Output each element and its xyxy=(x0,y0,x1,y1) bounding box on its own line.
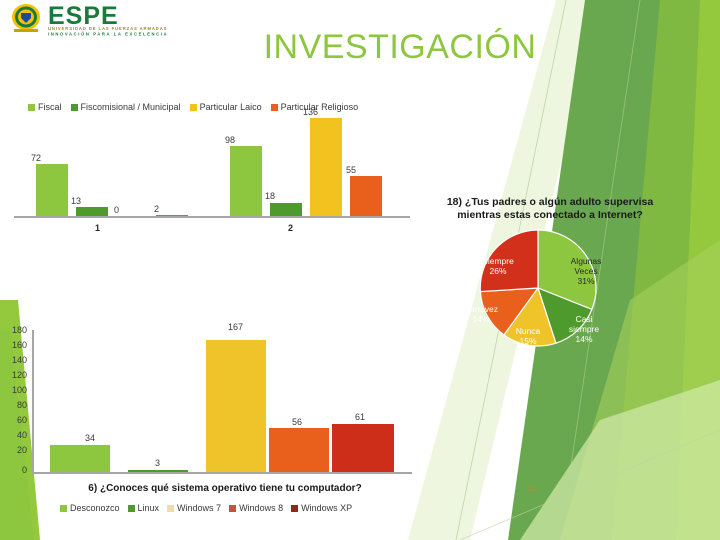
legend-item-desconozco: Desconozco xyxy=(60,503,120,513)
ytick-120: 120 xyxy=(0,370,27,380)
bar-windows-8 xyxy=(269,428,329,472)
pie-title-line1: 18) ¿Tus padres o algún adulto supervisa xyxy=(447,196,653,208)
slide-canvas: ESPE UNIVERSIDAD DE LAS FUERZAS ARMADAS … xyxy=(0,0,720,540)
ytick-40: 40 xyxy=(0,430,27,440)
legend-label: Linux xyxy=(138,503,160,513)
legend-item-linux: Linux xyxy=(128,503,160,513)
slide-title: INVESTIGACIÓN xyxy=(200,28,600,67)
pie-label-text2: siempre xyxy=(569,324,599,334)
deco-band-softgreen-right xyxy=(520,380,720,540)
legend-swatch xyxy=(190,104,197,111)
value-label-g1-particular-religioso: 2 xyxy=(154,204,159,214)
ytick-0: 0 xyxy=(0,465,27,475)
legend-swatch xyxy=(271,104,278,111)
logo-tagline-1: UNIVERSIDAD DE LAS FUERZAS ARMADAS xyxy=(48,26,167,31)
pie-chart: 18) ¿Tus padres o algún adulto supervisa… xyxy=(420,196,680,396)
bar-g2-fiscomisional xyxy=(270,203,302,216)
value-label-g2-particular-religioso: 55 xyxy=(346,165,356,175)
bar-desconozco xyxy=(50,445,110,472)
legend-label: Windows XP xyxy=(301,503,352,513)
pie-label-text: Nunca xyxy=(516,326,541,336)
legend-label: Desconozco xyxy=(70,503,120,513)
pie-label-value: 14% xyxy=(575,334,592,344)
top-bar-chart: Fiscal Fiscomisional / Municipal Particu… xyxy=(0,118,420,240)
legend-item-fiscal: Fiscal xyxy=(28,102,62,112)
legend-swatch xyxy=(71,104,78,111)
bottom-chart-title: 6) ¿Conoces qué sistema operativo tiene … xyxy=(30,483,420,494)
legend-swatch xyxy=(128,505,135,512)
pie-label-text: Siempre xyxy=(482,256,514,266)
legend-swatch xyxy=(291,505,298,512)
pie-label-rara-vez: Rara vez 14% xyxy=(456,304,506,324)
pie-title-line2: mientras estas conectado a Internet? xyxy=(457,209,643,221)
top-chart-baseline xyxy=(14,216,410,218)
value-label-linux: 3 xyxy=(155,458,160,468)
ytick-180: 180 xyxy=(0,325,27,335)
bottom-chart-legend: Desconozco Linux Windows 7 Windows 8 Win… xyxy=(60,503,352,513)
ytick-60: 60 xyxy=(0,415,27,425)
category-label-1: 1 xyxy=(95,223,100,233)
value-label-windows-xp: 61 xyxy=(355,412,365,422)
legend-label: Particular Religioso xyxy=(281,102,359,112)
bar-g2-fiscal xyxy=(230,146,262,216)
bar-g2-particular-laico xyxy=(310,118,342,216)
pie-label-algunas-veces: Algunas Veces 31% xyxy=(560,256,612,286)
legend-label: Fiscomisional / Municipal xyxy=(81,102,181,112)
bar-g2-particular-religioso xyxy=(350,176,382,216)
bar-g1-fiscomisional xyxy=(76,207,108,216)
legend-swatch xyxy=(28,104,35,111)
legend-item-fiscomisional: Fiscomisional / Municipal xyxy=(71,102,181,112)
pie-label-siempre: Siempre 26% xyxy=(472,256,524,276)
legend-swatch xyxy=(167,505,174,512)
legend-item-particular-laico: Particular Laico xyxy=(190,102,262,112)
legend-swatch xyxy=(60,505,67,512)
pie-label-text: Algunas xyxy=(571,256,602,266)
value-label-g2-fiscomisional: 18 xyxy=(265,191,275,201)
logo-shield-icon xyxy=(12,4,40,32)
pie-label-value: 26% xyxy=(489,266,506,276)
pie-label-text2: Veces xyxy=(574,266,597,276)
legend-item-windows-7: Windows 7 xyxy=(167,503,221,513)
pie-label-casi-siempre: Casi siempre 14% xyxy=(560,314,608,344)
value-label-windows-7: 167 xyxy=(228,322,243,332)
bar-g1-fiscal xyxy=(36,164,68,216)
value-label-windows-8: 56 xyxy=(292,417,302,427)
bottom-bar-chart: 180 160 140 120 100 80 60 40 20 0 34 3 1… xyxy=(0,325,425,540)
value-label-g2-particular-laico: 136 xyxy=(303,107,318,117)
legend-label: Fiscal xyxy=(38,102,62,112)
ytick-140: 140 xyxy=(0,355,27,365)
bottom-chart-plot xyxy=(32,330,412,472)
espe-logo: ESPE UNIVERSIDAD DE LAS FUERZAS ARMADAS … xyxy=(8,2,198,38)
legend-label: Particular Laico xyxy=(200,102,262,112)
pie-label-value: 15% xyxy=(519,336,536,346)
ytick-80: 80 xyxy=(0,400,27,410)
page-number: 10 xyxy=(528,484,537,493)
pie-label-text: Casi xyxy=(575,314,592,324)
logo-tagline-2: INNOVACIÓN PARA LA EXCELENCIA xyxy=(48,32,168,37)
ytick-160: 160 xyxy=(0,340,27,350)
ytick-100: 100 xyxy=(0,385,27,395)
pie-label-value: 31% xyxy=(577,276,594,286)
category-label-2: 2 xyxy=(288,223,293,233)
pie-label-value: 14% xyxy=(472,314,489,324)
bar-windows-xp xyxy=(332,424,394,472)
value-label-g1-particular-laico: 0 xyxy=(114,205,119,215)
ytick-20: 20 xyxy=(0,445,27,455)
legend-item-windows-8: Windows 8 xyxy=(229,503,283,513)
legend-label: Windows 8 xyxy=(239,503,283,513)
deco-hairline-3 xyxy=(460,430,720,540)
legend-label: Windows 7 xyxy=(177,503,221,513)
bar-windows-7 xyxy=(206,340,266,472)
legend-swatch xyxy=(229,505,236,512)
pie-chart-title: 18) ¿Tus padres o algún adulto supervisa… xyxy=(420,196,680,222)
bottom-chart-x-axis xyxy=(32,472,412,474)
value-label-desconozco: 34 xyxy=(85,433,95,443)
legend-item-windows-xp: Windows XP xyxy=(291,503,352,513)
value-label-g1-fiscomisional: 13 xyxy=(71,196,81,206)
pie-label-nunca: Nunca 15% xyxy=(506,326,550,346)
value-label-g2-fiscal: 98 xyxy=(225,135,235,145)
deco-band-lightgreen-right xyxy=(676,0,720,540)
pie-label-text: Rara vez xyxy=(464,304,498,314)
value-label-g1-fiscal: 72 xyxy=(31,153,41,163)
